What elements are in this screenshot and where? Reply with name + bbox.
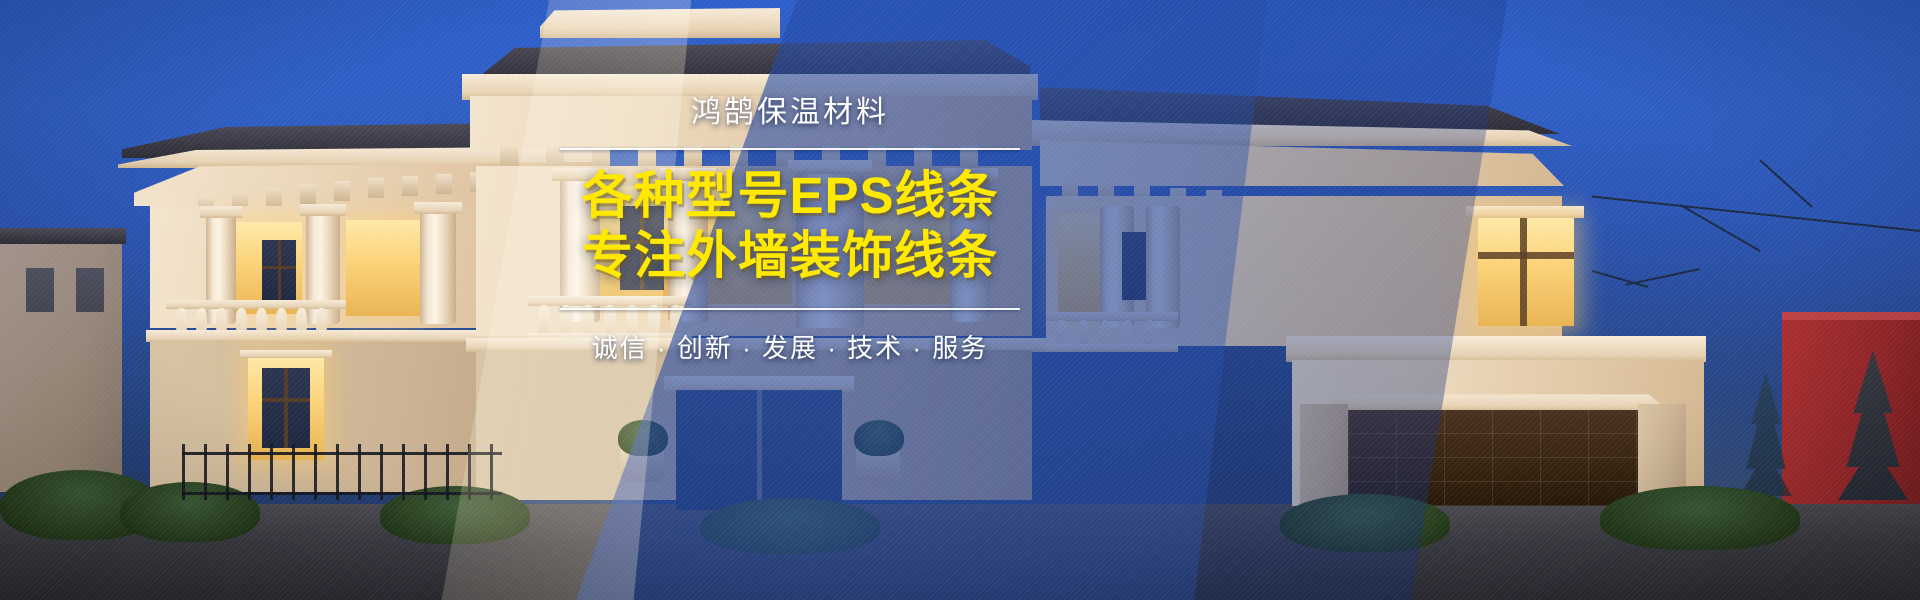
hedge-far-right [1600, 486, 1800, 550]
window-mullion [262, 266, 296, 269]
dentil [402, 176, 418, 196]
red-wall-cap [1782, 312, 1920, 320]
tagline: 诚信 · 创新 · 发展 · 技术 · 服务 [560, 328, 1020, 365]
divider-bottom [560, 308, 1020, 310]
column [420, 210, 456, 324]
window-surround [240, 350, 332, 358]
window-mullion [262, 398, 310, 402]
red-wall [1782, 316, 1920, 504]
dentil [266, 188, 282, 208]
far-left-outbuilding-roof [0, 228, 126, 244]
window-mullion [1520, 218, 1527, 326]
headline-block: 各种型号EPS线条 专注外墙装饰线条 [560, 166, 1020, 286]
banner-copy: 鸿鹄保温材料 各种型号EPS线条 专注外墙装饰线条 诚信 · 创新 · 发展 ·… [560, 96, 1020, 365]
dentil [436, 174, 452, 194]
divider-top [560, 148, 1020, 150]
iron-fence-rail [182, 452, 502, 455]
dentil [300, 184, 316, 204]
company-name: 鸿鹄保温材料 [560, 96, 1020, 129]
window-far-left [26, 268, 54, 312]
iron-fence-rail-2 [182, 492, 502, 495]
window-mullion [284, 368, 288, 448]
dentil [368, 178, 384, 198]
headline-line-1: 各种型号EPS线条 [560, 166, 1020, 226]
right-window-surround [1466, 206, 1584, 218]
window-glow-left-2 [346, 220, 420, 316]
dentil [334, 181, 350, 201]
hero-banner: 鸿鹄保温材料 各种型号EPS线条 专注外墙装饰线条 诚信 · 创新 · 发展 ·… [0, 0, 1920, 600]
window-mullion [1478, 252, 1574, 259]
column-capital [414, 202, 462, 214]
window-far-left-2 [76, 268, 104, 312]
headline-line-2: 专注外墙装饰线条 [560, 226, 1020, 286]
column-capital [300, 204, 346, 216]
window-mullion [278, 240, 281, 306]
column-capital [200, 206, 242, 218]
